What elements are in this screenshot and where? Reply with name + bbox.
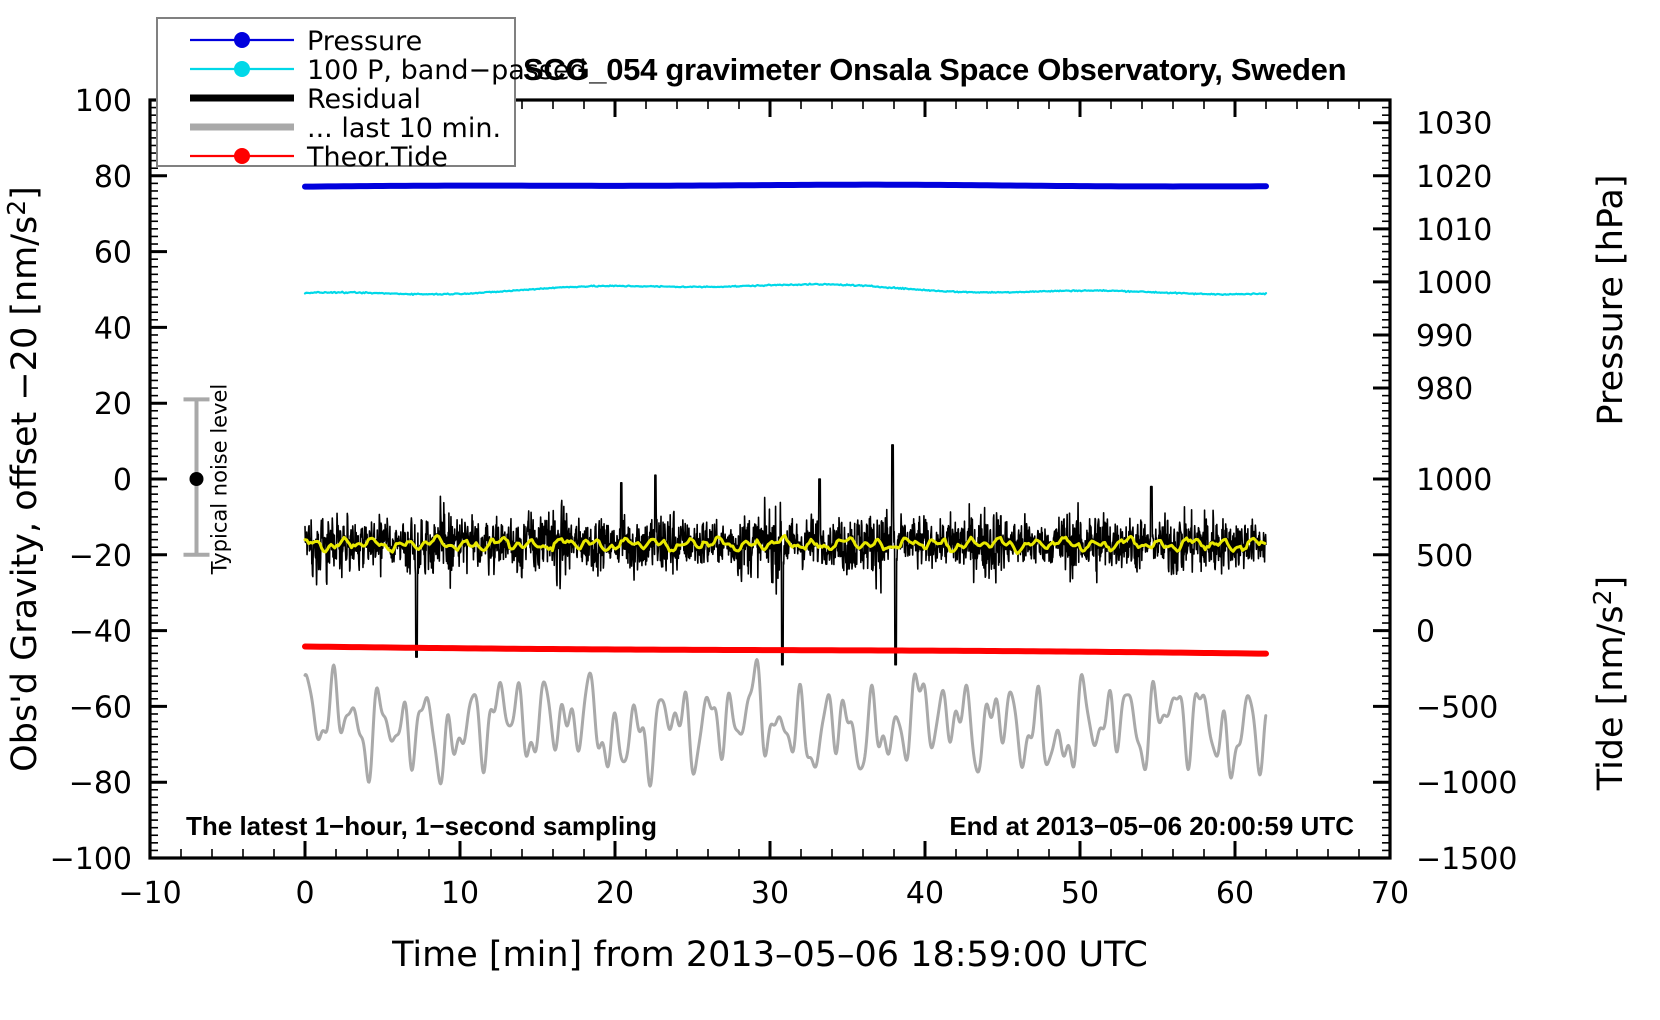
tide-tick-label: −500 xyxy=(1416,690,1498,725)
legend-swatch-marker xyxy=(234,61,250,77)
y-tick-label: −20 xyxy=(69,539,132,574)
sampling-note: The latest 1−hour, 1−second sampling xyxy=(186,811,657,841)
gravimeter-chart: −10010203040506070 −100−80−60−40−2002040… xyxy=(0,0,1660,1020)
y-tick-label: 40 xyxy=(94,311,132,346)
tide-tick-label: −1000 xyxy=(1416,766,1517,801)
pressure-tick-label: 990 xyxy=(1416,319,1473,354)
legend-item-label[interactable]: Pressure xyxy=(307,26,422,57)
x-tick-label: 60 xyxy=(1216,876,1254,911)
tide-tick-label: 500 xyxy=(1416,539,1473,574)
y-axis-title-text: Obs'd Gravity, offset −20 [nm/s xyxy=(5,216,45,772)
x-tick-label: −10 xyxy=(118,876,181,911)
legend-swatch-marker xyxy=(234,32,250,48)
y-tick-label: 100 xyxy=(75,84,132,119)
legend-item-label[interactable]: ... last 10 min. xyxy=(307,113,501,144)
end-time-label: End at 2013−05−06 20:00:59 UTC xyxy=(949,811,1354,841)
x-axis-title: Time [min] from 2013–05–06 18:59:00 UTC xyxy=(391,935,1148,975)
x-tick-label: 30 xyxy=(751,876,789,911)
x-tick-label: 40 xyxy=(906,876,944,911)
y-axis-tide-title: Tide [nm/s2] xyxy=(1588,576,1631,791)
typical-noise-level-label: Typical noise level xyxy=(208,384,232,576)
legend-item-label[interactable]: Residual xyxy=(307,84,421,115)
y-tick-label: −60 xyxy=(69,690,132,725)
y-tick-label: −100 xyxy=(50,842,132,877)
legend-swatch-marker xyxy=(234,148,250,164)
pressure-tick-label: 1010 xyxy=(1416,213,1492,248)
pressure-tick-label: 980 xyxy=(1416,372,1473,407)
y-tick-label: −80 xyxy=(69,766,132,801)
tide-tick-label: 0 xyxy=(1416,615,1435,650)
y-tick-label: 60 xyxy=(94,236,132,271)
x-tick-label: 50 xyxy=(1061,876,1099,911)
x-tick-label: 70 xyxy=(1371,876,1409,911)
y-tick-label: 20 xyxy=(94,387,132,422)
x-tick-label: 10 xyxy=(441,876,479,911)
x-tick-label: 0 xyxy=(295,876,314,911)
pressure-tick-label: 1030 xyxy=(1416,107,1492,142)
legend-item-label[interactable]: Theor.Tide xyxy=(306,142,448,173)
legend-item-label[interactable]: 100 P, band−passed xyxy=(307,55,587,86)
y-tick-label: 80 xyxy=(94,160,132,195)
trace-pressure xyxy=(305,185,1266,187)
tide-tick-label: −1500 xyxy=(1416,842,1517,877)
y-axis-pressure-title: Pressure [hPa] xyxy=(1591,174,1631,425)
tide-tick-label: 1000 xyxy=(1416,463,1492,498)
pressure-tick-label: 1000 xyxy=(1416,266,1492,301)
y-axis-title: Obs'd Gravity, offset −20 [nm/s2] xyxy=(2,186,45,772)
x-tick-label: 20 xyxy=(596,876,634,911)
y-tick-label: −40 xyxy=(69,615,132,650)
page-title: SCG_054 gravimeter Onsala Space Observat… xyxy=(523,52,1346,87)
y-tick-label: 0 xyxy=(113,463,132,498)
pressure-tick-label: 1020 xyxy=(1416,160,1492,195)
figure-root: −10010203040506070 −100−80−60−40−2002040… xyxy=(0,0,1660,1020)
